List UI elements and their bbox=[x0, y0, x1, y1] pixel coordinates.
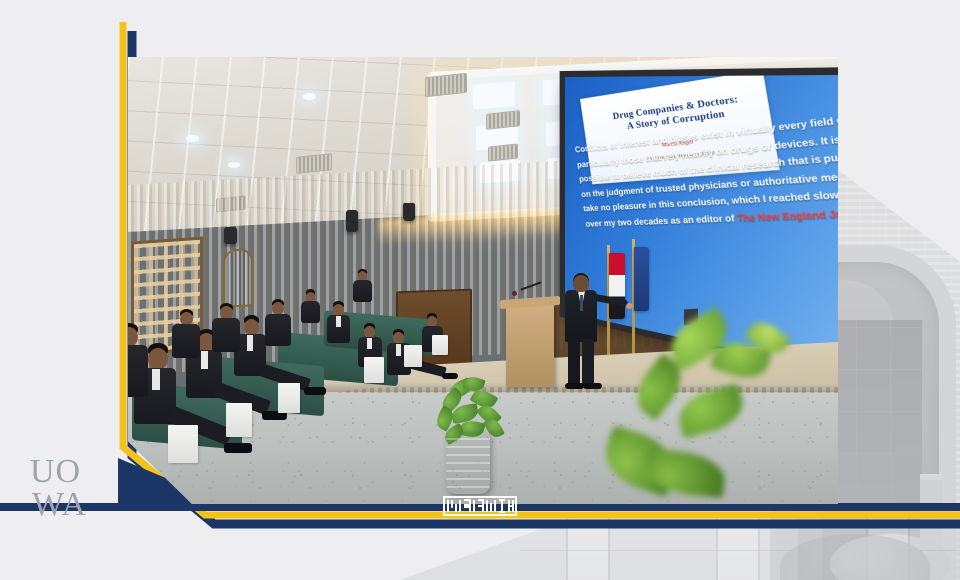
ceiling-spot-light bbox=[228, 162, 240, 168]
name-card bbox=[278, 383, 300, 413]
ac-vent bbox=[488, 143, 518, 161]
speaker-head bbox=[573, 275, 589, 292]
poster-canvas: Drug Companies & Doctors: A Story of Cor… bbox=[0, 0, 960, 580]
speaker-leg bbox=[568, 339, 580, 387]
speaker-tie bbox=[580, 295, 583, 311]
attendee-body bbox=[172, 324, 200, 358]
attendee-shoe bbox=[224, 443, 252, 453]
attendee-shirt bbox=[247, 335, 253, 351]
ceiling-panel-light bbox=[473, 82, 515, 110]
name-card bbox=[168, 425, 198, 463]
kufic-arabic-wordmark bbox=[443, 495, 517, 517]
attendee-shirt bbox=[336, 316, 341, 327]
speaker-leg bbox=[582, 339, 594, 387]
attendee-shoe bbox=[304, 387, 326, 395]
wall-speaker bbox=[224, 227, 237, 244]
audience-group bbox=[128, 275, 458, 504]
uowa-line-2: WA bbox=[32, 488, 110, 521]
attendee-head bbox=[148, 348, 168, 370]
slide-source-citation: The New England Journal of Medicine bbox=[736, 203, 838, 223]
wall-speaker bbox=[346, 210, 358, 232]
attendee-body bbox=[353, 280, 372, 302]
foreground-leaves bbox=[608, 329, 838, 504]
speaker-shoe bbox=[583, 383, 602, 389]
attendee-body bbox=[265, 314, 291, 346]
flag-iraq bbox=[609, 253, 625, 319]
attendee-body bbox=[301, 301, 320, 323]
ceiling-spot-light bbox=[303, 93, 316, 100]
name-card bbox=[404, 345, 422, 367]
speaker-shoe bbox=[565, 383, 584, 389]
microphone-base bbox=[512, 291, 517, 296]
attendee-shirt bbox=[201, 351, 208, 369]
uowa-monogram: UO WA bbox=[30, 455, 110, 525]
name-card bbox=[226, 403, 252, 437]
conference-hall-photo: Drug Companies & Doctors: A Story of Cor… bbox=[128, 57, 838, 504]
name-card bbox=[364, 357, 384, 383]
attendee-shirt bbox=[152, 369, 160, 390]
flag-university bbox=[634, 247, 649, 311]
name-card bbox=[432, 335, 448, 355]
attendee-body bbox=[212, 318, 240, 352]
speaker-hand bbox=[626, 303, 633, 309]
plant-pot bbox=[446, 432, 490, 494]
attendee-shirt bbox=[396, 344, 401, 356]
attendee-body bbox=[128, 345, 148, 397]
uowa-line-1: UO bbox=[30, 455, 110, 488]
attendee-shirt bbox=[367, 338, 372, 349]
ceiling-spot-light bbox=[186, 135, 199, 142]
ceiling-projector bbox=[403, 203, 415, 221]
